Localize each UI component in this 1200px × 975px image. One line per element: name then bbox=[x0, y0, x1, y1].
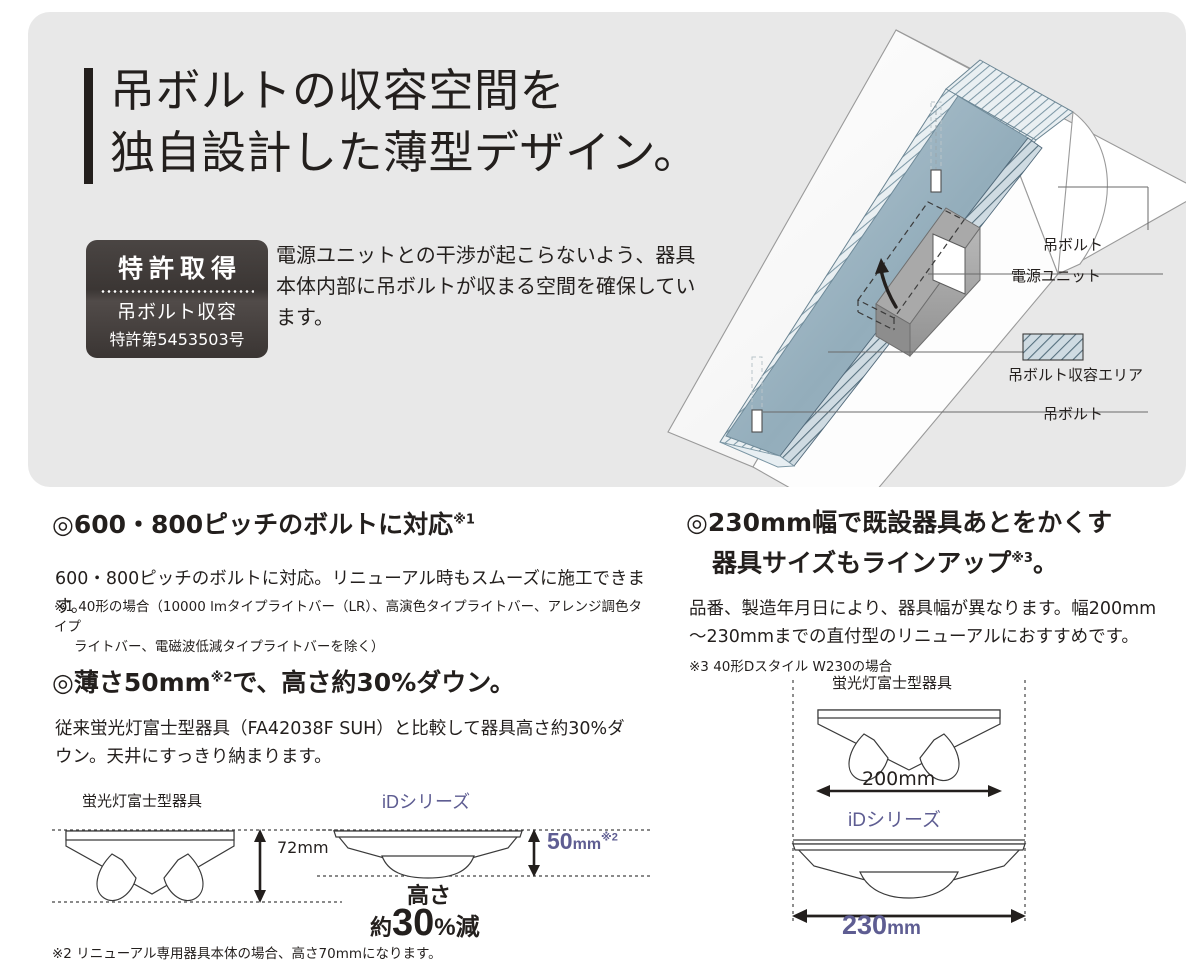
reduction-value: 30 bbox=[392, 902, 434, 944]
heading-width-sup: ※3 bbox=[1011, 551, 1033, 566]
heading-thin: ◎薄さ50mm※2で、高さ約30%ダウン。 bbox=[52, 663, 515, 699]
footnote-pitch: ※1 40形の場合（10000 lmタイプライトバー（LR）、高演色タイプライト… bbox=[54, 597, 654, 657]
dimension-new-height-value: 50 bbox=[547, 828, 573, 854]
dimension-new-width-value: 230 bbox=[842, 910, 887, 940]
heading-thin-sup: ※2 bbox=[211, 671, 233, 686]
dimension-new-height-unit: mm bbox=[573, 836, 601, 853]
heading-width-line2-group: 器具サイズもラインアップ※3。 bbox=[686, 541, 1166, 581]
heading-thin-b: で、高さ約30%ダウン。 bbox=[232, 668, 514, 697]
height-comparison-diagram: 蛍光灯富士型器具 iDシリーズ 72mm 50mm※2 高さ 約30%減 bbox=[52, 790, 662, 940]
patent-badge-divider bbox=[100, 290, 254, 293]
footnote-pitch-line1: ※1 40形の場合（10000 lmタイプライトバー（LR）、高演色タイプライト… bbox=[54, 599, 642, 635]
fixture-cutaway-illustration: 吊ボルト 電源ユニット 吊ボルト収容エリア 吊ボルト bbox=[628, 12, 1186, 487]
dimension-new-width: 230mm bbox=[842, 910, 921, 941]
reduction-prefix: 約 bbox=[370, 915, 392, 940]
callout-bolt-bottom: 吊ボルト bbox=[1043, 403, 1103, 424]
callout-power-unit: 電源ユニット bbox=[1011, 265, 1101, 286]
callout-bolt-top: 吊ボルト bbox=[1043, 234, 1103, 255]
label-old-fixture-height: 蛍光灯富士型器具 bbox=[82, 790, 202, 811]
callout-bolt-area: 吊ボルト収容エリア bbox=[1008, 364, 1143, 385]
patent-badge-number: 特許第5453503号 bbox=[86, 326, 268, 350]
reduction-suffix: %減 bbox=[434, 914, 479, 941]
hero-panel: 吊ボルトの収容空間を 独自設計した薄型デザイン。 特許取得 吊ボルト収容 特許第… bbox=[28, 12, 1186, 487]
width-comparison-diagram: 蛍光灯富士型器具 200mm iDシリーズ 230mm bbox=[780, 672, 1042, 952]
heading-width-line1: ◎230mm幅で既設器具あとをかくす bbox=[686, 508, 1112, 537]
dimension-new-height-sup: ※2 bbox=[601, 831, 618, 843]
reduction-value-group: 約30%減 bbox=[370, 902, 480, 945]
title-accent-bar bbox=[84, 68, 93, 184]
body-thin: 従来蛍光灯富士型器具（FA42038F SUH）と比較して器具高さ約30%ダウン… bbox=[55, 715, 625, 771]
heading-width: ◎230mm幅で既設器具あとをかくす 器具サイズもラインアップ※3。 bbox=[686, 505, 1166, 581]
label-old-fixture-width: 蛍光灯富士型器具 bbox=[832, 672, 952, 693]
dimension-new-height: 50mm※2 bbox=[547, 828, 618, 855]
patent-badge-subtitle: 吊ボルト収容 bbox=[86, 297, 268, 324]
dimension-old-height: 72mm bbox=[277, 838, 329, 857]
patent-badge-title: 特許取得 bbox=[86, 249, 268, 285]
footnote-thin: ※2 リニューアル専用器具本体の場合、高さ70mmになります。 bbox=[52, 944, 442, 964]
heading-width-end: 。 bbox=[1033, 548, 1058, 577]
label-new-fixture-width: iDシリーズ bbox=[848, 805, 941, 832]
patent-badge: 特許取得 吊ボルト収容 特許第5453503号 bbox=[86, 240, 268, 358]
dimension-old-width: 200mm bbox=[862, 768, 935, 790]
footnote-pitch-line2: ライトバー、電磁波低減タイプライトバーを除く） bbox=[54, 637, 654, 657]
heading-pitch-text: ◎600・800ピッチのボルトに対応 bbox=[52, 510, 453, 539]
dimension-new-width-unit: mm bbox=[887, 918, 921, 939]
heading-pitch: ◎600・800ピッチのボルトに対応※1 bbox=[52, 505, 475, 541]
body-width: 品番、製造年月日により、器具幅が異なります。幅200mm～230mmまでの直付型… bbox=[689, 595, 1169, 651]
label-new-fixture-height: iDシリーズ bbox=[382, 788, 470, 814]
height-comparison-svg bbox=[52, 790, 662, 940]
heading-width-line2: 器具サイズもラインアップ bbox=[712, 548, 1011, 577]
heading-thin-a: ◎薄さ50mm bbox=[52, 668, 211, 697]
heading-pitch-sup: ※1 bbox=[453, 513, 475, 528]
